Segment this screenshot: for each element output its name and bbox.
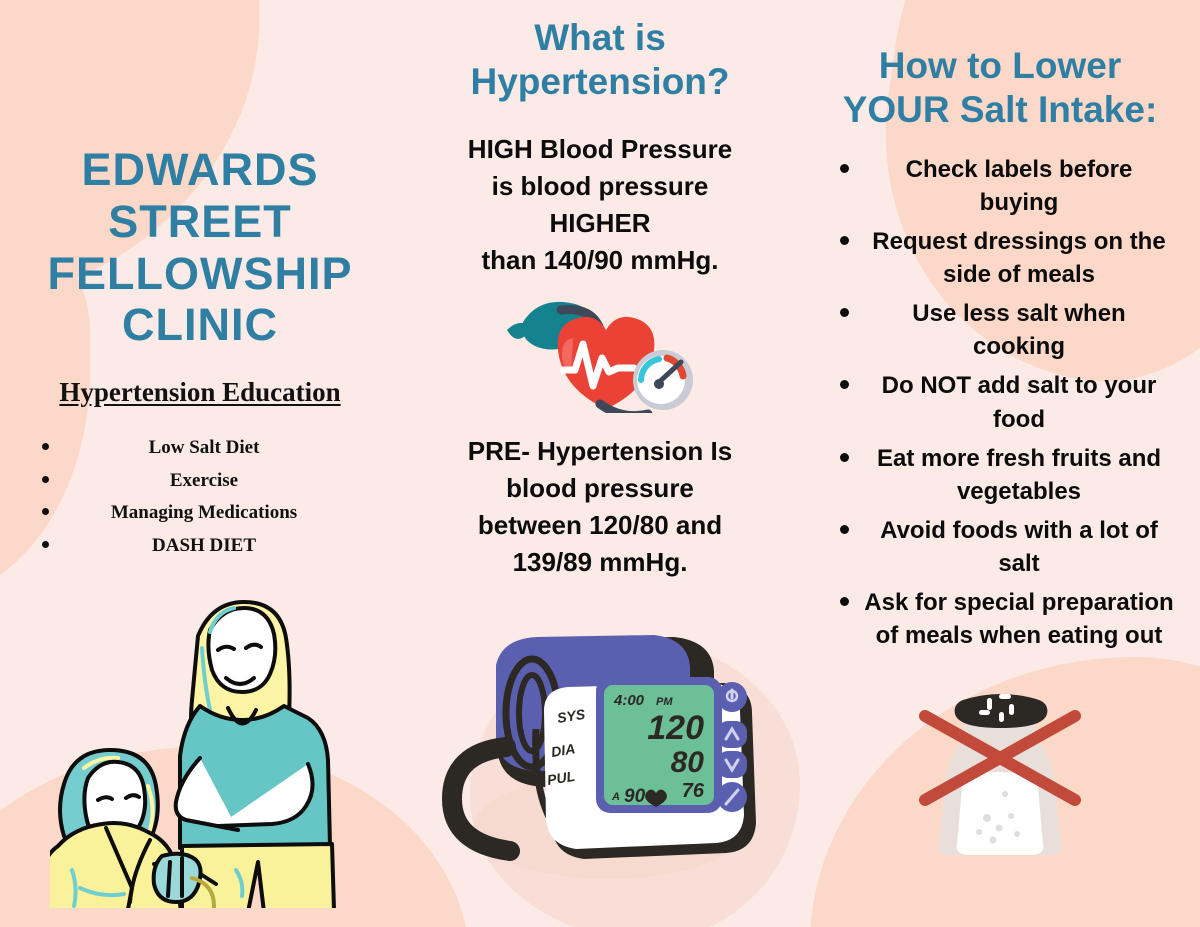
- definition-line: blood pressure: [422, 470, 778, 507]
- definition-line: between 120/80 and: [422, 507, 778, 544]
- brochure-page: WELCOME TO EDWARDS STREET FELLOWSHIP CLI…: [0, 0, 1200, 927]
- salt-shaker-cap: [955, 694, 1048, 728]
- list-item: Check labels before buying: [822, 153, 1188, 225]
- digital-blood-pressure-monitor-illustration: 4:00 PM 120 80 76 A 90 SYS DIA PUL: [440, 617, 760, 887]
- monitor-footer-tag: A: [611, 791, 620, 803]
- definition-line: HIGHER: [422, 205, 778, 242]
- list-item: Do NOT add salt to your food: [822, 369, 1188, 441]
- section-heading-salt: How to Lower YOUR Salt Intake:: [812, 44, 1188, 133]
- column-lower-salt-intake: How to Lower YOUR Salt Intake: Check lab…: [800, 0, 1200, 927]
- heading-line: How to Lower: [879, 45, 1122, 86]
- definition-line: HIGH Blood Pressure: [422, 131, 778, 168]
- hypertension-definition: HIGH Blood Pressure is blood pressure HI…: [422, 131, 778, 279]
- definition-line: than 140/90 mmHg.: [422, 242, 778, 279]
- clinic-name-line: CLINIC: [18, 299, 382, 351]
- education-topic-list: Low Salt Diet Exercise Managing Medicati…: [18, 434, 382, 564]
- list-item: Request dressings on the side of meals: [822, 225, 1188, 297]
- heading-line: YOUR Salt Intake:: [843, 89, 1158, 130]
- monitor-pul-value: 76: [682, 780, 705, 802]
- list-item: Avoid foods with a lot of salt: [822, 514, 1188, 586]
- definition-line: is blood pressure: [422, 168, 778, 205]
- list-item: Use less salt when cooking: [822, 297, 1188, 369]
- list-item: Managing Medications: [36, 499, 382, 532]
- list-item: Exercise: [36, 467, 382, 500]
- column-welcome: WELCOME TO EDWARDS STREET FELLOWSHIP CLI…: [0, 0, 400, 927]
- list-item: DASH DIET: [36, 532, 382, 565]
- nurse-taking-blood-pressure-illustration: [50, 588, 350, 908]
- list-item: Eat more fresh fruits and vegetables: [822, 442, 1188, 514]
- list-item: Ask for special preparation of meals whe…: [822, 586, 1188, 658]
- monitor-down-button[interactable]: [717, 751, 747, 778]
- monitor-up-button[interactable]: [717, 721, 747, 748]
- salt-tips-list: Check labels before buying Request dress…: [812, 153, 1188, 659]
- salt-grains: [957, 772, 1044, 855]
- clinic-name-line: EDWARDS: [18, 144, 382, 196]
- clinic-name: EDWARDS STREET FELLOWSHIP CLINIC: [18, 144, 382, 351]
- heading-line: Hypertension?: [470, 61, 729, 102]
- clinic-name-line: STREET: [18, 196, 382, 248]
- heart-with-ecg-and-sphygmomanometer-icon: [495, 288, 705, 413]
- section-heading-hypertension: What is Hypertension?: [422, 16, 778, 105]
- monitor-sys-value: 120: [647, 709, 704, 747]
- monitor-footer-value: 90: [624, 786, 646, 807]
- clinic-name-line: FELLOWSHIP: [18, 248, 382, 300]
- column-what-is-hypertension: What is Hypertension? HIGH Blood Pressur…: [400, 0, 800, 927]
- definition-line: PRE- Hypertension Is: [422, 433, 778, 470]
- monitor-dia-value: 80: [671, 746, 705, 779]
- education-section-title: Hypertension Education: [18, 377, 382, 408]
- list-item: Low Salt Diet: [36, 434, 382, 467]
- definition-line: 139/89 mmHg.: [422, 544, 778, 581]
- brochure-columns: WELCOME TO EDWARDS STREET FELLOWSHIP CLI…: [0, 0, 1200, 927]
- pre-hypertension-definition: PRE- Hypertension Is blood pressure betw…: [422, 433, 778, 581]
- monitor-meridiem: PM: [656, 696, 673, 708]
- no-salt-shaker-illustration: [895, 668, 1105, 858]
- heading-line: What is: [534, 17, 666, 58]
- monitor-time: 4:00: [613, 692, 645, 709]
